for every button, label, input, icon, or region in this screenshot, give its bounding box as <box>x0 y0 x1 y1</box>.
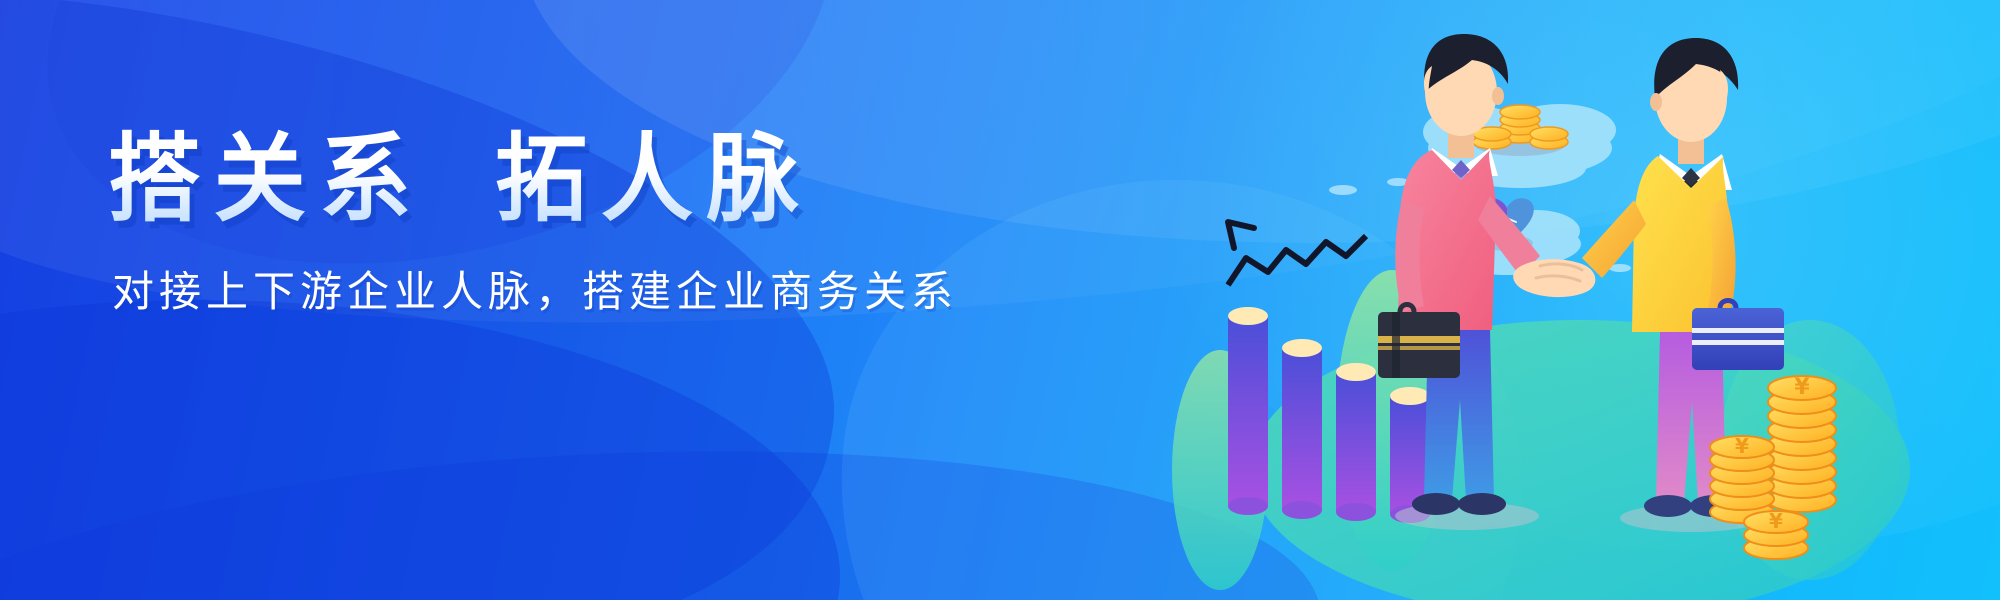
headline-spacer <box>425 123 495 235</box>
headline-part-1: 搭关系 <box>108 123 425 235</box>
briefcase-blue <box>1692 301 1784 371</box>
trend-arrow <box>1228 222 1366 285</box>
svg-text:¥: ¥ <box>1794 375 1810 400</box>
handshake-hands <box>1513 259 1595 297</box>
svg-text:¥: ¥ <box>1769 509 1783 533</box>
banner-subheadline: 对接上下游企业人脉，搭建企业商务关系 <box>112 258 958 319</box>
svg-text:¥: ¥ <box>1735 434 1749 458</box>
briefcase-black <box>1378 305 1460 379</box>
business-handshake-illustration: ¥ ¥ ¥ <box>1020 0 2000 600</box>
headline-part-2: 拓人脉 <box>495 123 812 235</box>
banner-headline: 搭关系 拓人脉 <box>108 128 924 232</box>
promo-banner: 搭关系 拓人脉 对接上下游企业人脉，搭建企业商务关系 <box>0 0 2000 600</box>
banner-text-block: 搭关系 拓人脉 对接上下游企业人脉，搭建企业商务关系 <box>108 128 958 319</box>
